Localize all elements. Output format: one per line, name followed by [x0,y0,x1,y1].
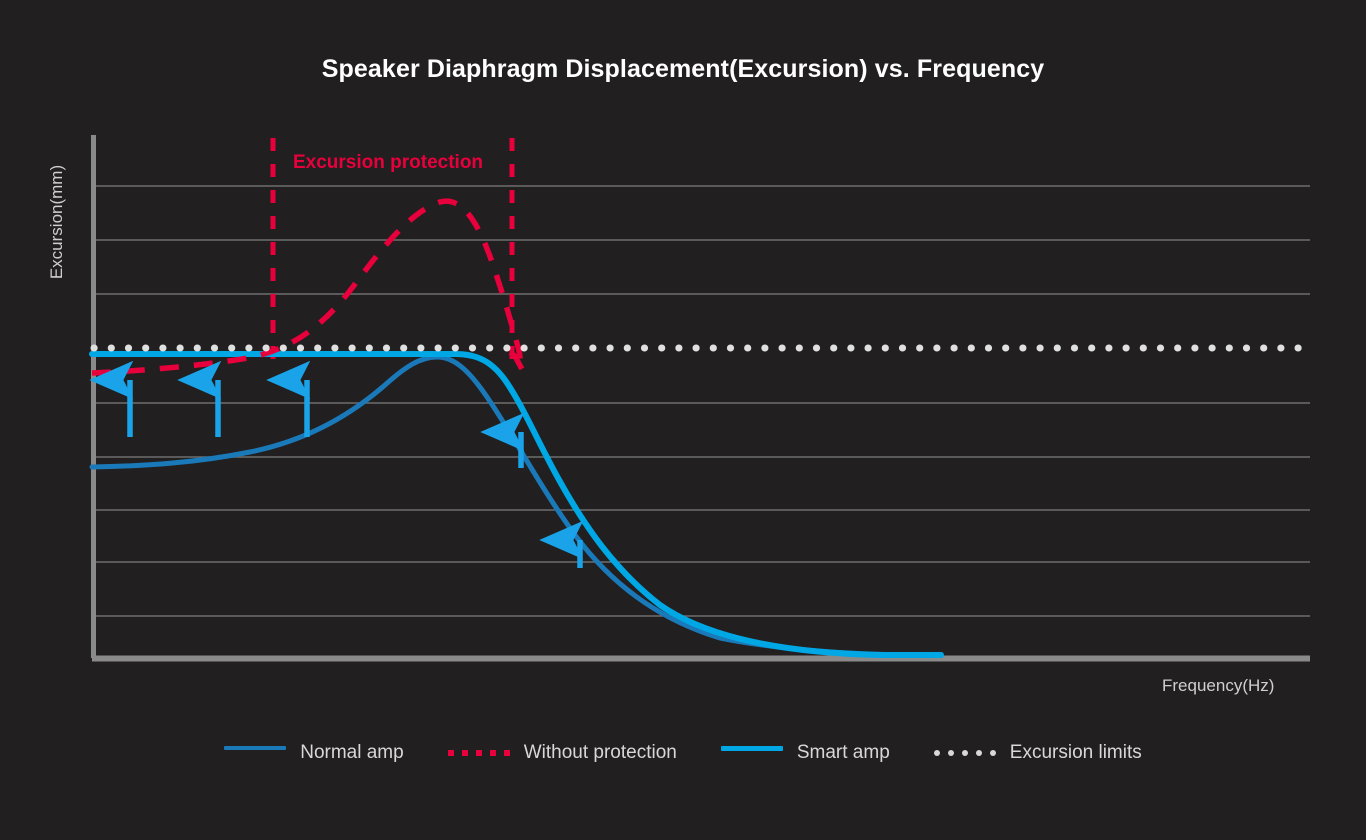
chart-legend: Normal amp Without protection Smart amp [0,742,1366,764]
legend-swatch-without-protection-icon [448,746,510,760]
chart-container: Speaker Diaphragm Displacement(Excursion… [0,0,1366,840]
legend-swatch-smart-amp-icon [721,746,783,760]
legend-label-excursion-limits: Excursion limits [1010,742,1142,764]
legend-item-without-protection[interactable]: Without protection [448,742,677,764]
plot-area [0,0,1366,840]
legend-item-excursion-limits[interactable]: Excursion limits [934,742,1142,764]
legend-swatch-normal-amp-icon [224,746,286,760]
legend-item-smart-amp[interactable]: Smart amp [721,742,890,764]
legend-label-normal-amp: Normal amp [300,742,403,764]
legend-item-normal-amp[interactable]: Normal amp [224,742,403,764]
legend-swatch-excursion-limits-icon [934,746,996,760]
legend-label-without-protection: Without protection [524,742,677,764]
legend-label-smart-amp: Smart amp [797,742,890,764]
